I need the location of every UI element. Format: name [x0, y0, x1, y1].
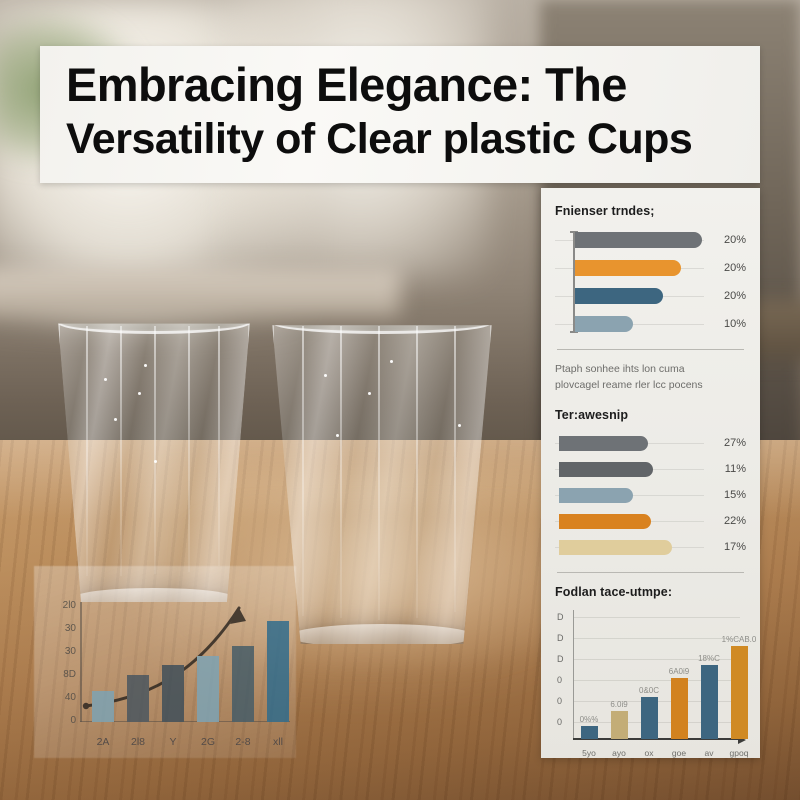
chart2-bar — [559, 462, 653, 477]
chart2-row: 22% — [555, 511, 746, 532]
chart1-bar — [575, 288, 663, 304]
overlay-y-tick: 8D — [42, 669, 76, 680]
panel-body-line2: plovcagel reame rler lcc pocens — [555, 378, 746, 394]
overlay-bar-chart: 2l030308D4002A2l8Y2G2-8xll — [34, 566, 296, 758]
chart1-row: 20% — [555, 285, 746, 307]
vchart-value-label: 18%C — [698, 654, 720, 663]
vchart-bar — [701, 665, 718, 739]
chart2-row: 11% — [555, 459, 746, 480]
overlay-x-tick: Y — [169, 736, 176, 748]
chart1-row: 20% — [555, 257, 746, 279]
vchart-y-axis — [573, 610, 574, 740]
vchart-gridline — [574, 638, 740, 639]
panel-divider — [557, 349, 744, 350]
overlay-bar — [162, 665, 184, 722]
glass-front — [272, 312, 492, 644]
chart2-track — [555, 537, 704, 558]
horizontal-bar-chart-1: 20% 20% 20% 10% — [555, 229, 746, 335]
vchart-value-label: 0%% — [580, 715, 599, 724]
chart2-track — [555, 433, 704, 454]
vchart-bar — [731, 646, 748, 739]
chart1-bar — [575, 316, 633, 332]
section3-title: Fodlan tace-utmpe: — [555, 585, 746, 599]
vchart-x-tick: ox — [645, 748, 654, 758]
overlay-x-tick: xll — [273, 736, 283, 748]
chart2-bar — [559, 514, 651, 529]
chart1-row: 20% — [555, 229, 746, 251]
vchart-x-tick: goe — [672, 748, 686, 758]
overlay-bar — [232, 646, 254, 722]
overlay-bar — [267, 621, 289, 722]
glass-flute — [120, 326, 122, 576]
glass-droplet — [104, 378, 107, 381]
vchart-gridline — [574, 617, 740, 618]
panel-body-line1: Ptaph sonhee ihts lon cuma — [555, 362, 746, 378]
glass-flute — [416, 326, 418, 618]
glass-droplet — [154, 460, 157, 463]
section1-title: Fnienser trndes; — [555, 204, 746, 218]
overlay-y-tick: 30 — [42, 623, 76, 634]
chart1-track — [555, 313, 704, 335]
chart2-bar — [559, 540, 672, 555]
chart2-value: 15% — [704, 489, 746, 501]
glass-droplet — [390, 360, 393, 363]
glass-front-body — [272, 322, 492, 644]
overlay-y-tick: 30 — [42, 646, 76, 657]
chart2-row: 27% — [555, 433, 746, 454]
glass-droplet — [144, 364, 147, 367]
chart2-value: 22% — [704, 515, 746, 527]
glass-flute — [218, 326, 220, 566]
glass-flute — [188, 326, 190, 572]
chart2-value: 17% — [704, 541, 746, 553]
vchart-x-tick: ayo — [612, 748, 626, 758]
chart1-value: 20% — [704, 290, 746, 302]
glass-droplet — [114, 418, 117, 421]
overlay-x-tick: 2l8 — [131, 736, 145, 748]
vchart-x-tick: gpoq — [730, 748, 749, 758]
window-ledge — [0, 268, 400, 316]
overlay-y-tick: 0 — [42, 715, 76, 726]
chart1-bar — [575, 260, 681, 276]
glass-droplet — [138, 392, 141, 395]
title-banner: Embracing Elegance: The Versatility of C… — [40, 46, 760, 183]
glass-droplet — [336, 434, 339, 437]
page-title-line2: Versatility of Clear plastic Cups — [66, 114, 734, 166]
vchart-y-tick: D — [557, 633, 564, 643]
chart2-bar — [559, 488, 633, 503]
glass-flute — [454, 326, 456, 612]
panel-body-text: Ptaph sonhee ihts lon cuma plovcagel rea… — [555, 362, 746, 394]
vchart-y-tick: 0 — [557, 675, 562, 685]
glass-flute — [378, 326, 380, 620]
vchart-value-label: 6A0i9 — [669, 667, 689, 676]
glass-back — [58, 312, 250, 602]
vchart-y-tick: 0 — [557, 696, 562, 706]
overlay-x-tick: 2G — [201, 736, 215, 748]
chart2-track — [555, 485, 704, 506]
chart1-value: 20% — [704, 262, 746, 274]
chart1-value: 10% — [704, 318, 746, 330]
vchart-value-label: 0&0C — [639, 686, 659, 695]
trend-arrow-icon — [34, 566, 296, 758]
chart2-track — [555, 459, 704, 480]
overlay-x-tick: 2A — [97, 736, 110, 748]
vchart-value-label: 6.0i9 — [610, 700, 627, 709]
horizontal-bar-chart-2: 27% 11% 15% 22% — [555, 433, 746, 558]
glass-droplet — [324, 374, 327, 377]
panel-divider — [557, 572, 744, 573]
glass-droplet — [368, 392, 371, 395]
vchart-value-label: 1%CAB.0 — [722, 635, 757, 644]
overlay-y-tick: 40 — [42, 692, 76, 703]
section2-title: Ter:awesnip — [555, 408, 746, 422]
chart1-value: 20% — [704, 234, 746, 246]
chart1-track — [555, 257, 704, 279]
chart2-value: 11% — [704, 463, 746, 475]
overlay-y-tick: 2l0 — [42, 600, 76, 611]
vchart-y-tick: D — [557, 612, 564, 622]
chart2-track — [555, 511, 704, 532]
glass-flute — [340, 326, 342, 618]
chart1-bar — [575, 232, 702, 248]
chart2-row: 17% — [555, 537, 746, 558]
overlay-x-tick: 2-8 — [235, 736, 250, 748]
vchart-bar — [671, 678, 688, 739]
vchart-bar — [581, 726, 598, 739]
page-title-line1: Embracing Elegance: The — [66, 58, 734, 112]
glass-flute — [302, 326, 304, 616]
overlay-bar — [127, 675, 149, 722]
glass-droplet — [458, 424, 461, 427]
glass-flute — [86, 326, 88, 576]
overlay-bar — [197, 656, 219, 722]
vertical-bar-chart: DDD0000%%5yo6.0i9ayo0&0Cox6A0i9goe18%Cav… — [555, 610, 746, 758]
glass-flute — [154, 326, 156, 574]
chart2-value: 27% — [704, 437, 746, 449]
side-panel: Fnienser trndes; 20% 20% 20% — [541, 188, 760, 758]
chart2-row: 15% — [555, 485, 746, 506]
vchart-x-tick: av — [705, 748, 714, 758]
chart1-row: 10% — [555, 313, 746, 335]
vchart-y-tick: D — [557, 654, 564, 664]
vchart-bar — [611, 711, 628, 739]
chart1-track — [555, 229, 704, 251]
overlay-bar — [92, 691, 114, 722]
vchart-y-tick: 0 — [557, 717, 562, 727]
chart1-track — [555, 285, 704, 307]
vchart-x-tick: 5yo — [582, 748, 596, 758]
vchart-bar — [641, 697, 658, 739]
chart2-bar — [559, 436, 648, 451]
